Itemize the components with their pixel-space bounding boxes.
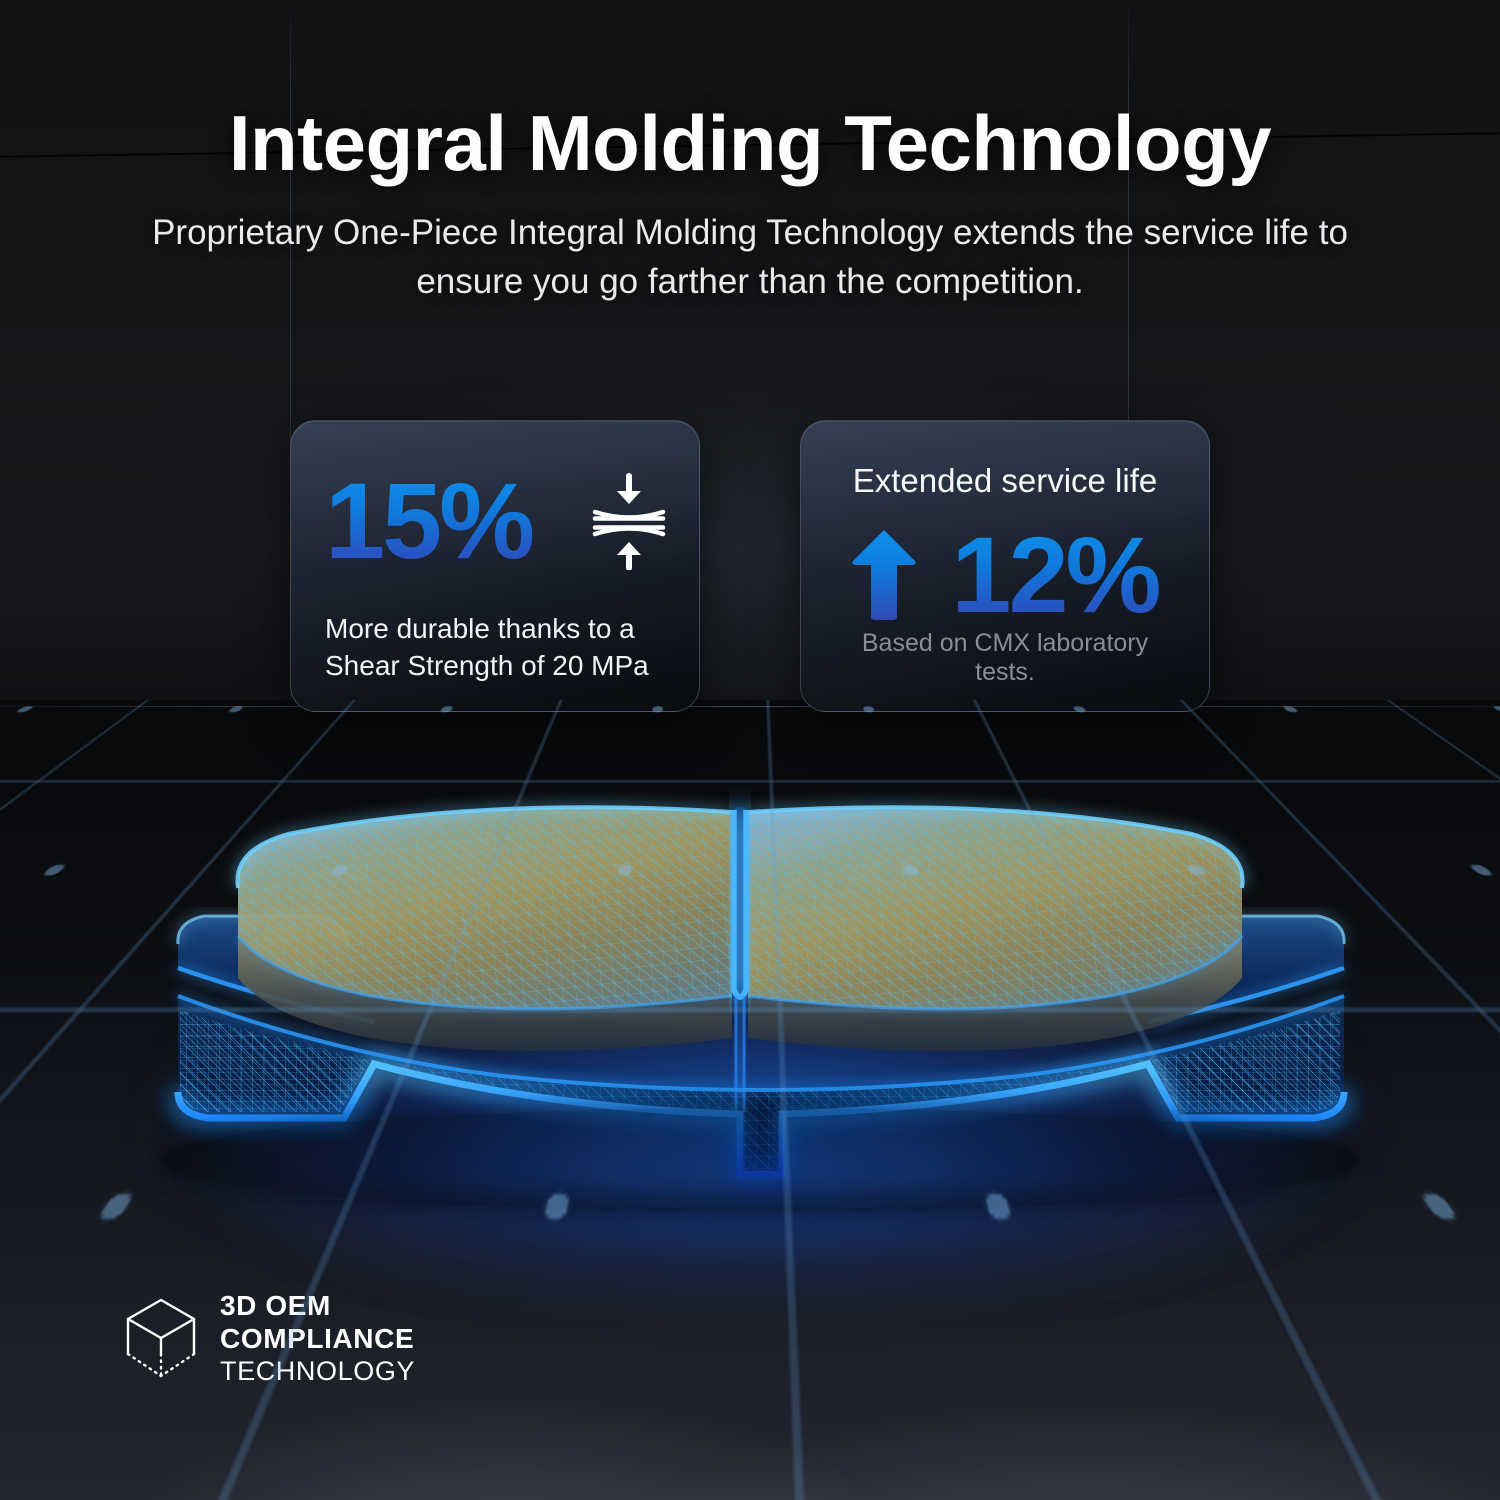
friction-block-left xyxy=(210,790,770,1051)
brand-logo: 3D OEM COMPLIANCE TECHNOLOGY xyxy=(124,1292,415,1385)
stat-card-durability[interactable]: 15% More durable thanks to xyxy=(290,420,700,712)
brake-pad-reflection xyxy=(180,1091,1340,1190)
logo-line-2: COMPLIANCE xyxy=(220,1325,415,1353)
brake-pad-3d-model xyxy=(120,760,1400,1280)
service-life-stat-value: 12% xyxy=(951,521,1158,629)
wireframe-cube-icon xyxy=(124,1296,198,1382)
service-life-stat-row: 12% xyxy=(851,521,1158,629)
stat-card-group: 15% More durable thanks to xyxy=(0,420,1500,712)
durability-caption: More durable thanks to a Shear Strength … xyxy=(325,610,665,685)
durability-stat-value: 15% xyxy=(325,467,532,575)
friction-block-center-slot xyxy=(732,807,748,1112)
service-life-note: Based on CMX laboratory tests. xyxy=(835,629,1175,687)
logo-line-1: 3D OEM xyxy=(220,1292,415,1320)
promo-graphic: Integral Molding Technology Proprietary … xyxy=(0,0,1500,1500)
compression-icon xyxy=(590,472,668,570)
logo-line-3: TECHNOLOGY xyxy=(220,1358,415,1385)
service-life-heading: Extended service life xyxy=(853,463,1158,499)
header: Integral Molding Technology Proprietary … xyxy=(0,0,1500,306)
stat-card-service-life[interactable]: Extended service life 12% Based on CMX l… xyxy=(800,420,1210,712)
up-arrow-icon xyxy=(851,528,917,622)
logo-text: 3D OEM COMPLIANCE TECHNOLOGY xyxy=(220,1292,415,1385)
brake-pad-wireframe xyxy=(120,760,1400,1280)
friction-block-right xyxy=(740,790,1300,1051)
durability-stat-row: 15% xyxy=(325,461,665,581)
page-subtitle: Proprietary One-Piece Integral Molding T… xyxy=(120,208,1380,306)
page-title: Integral Molding Technology xyxy=(0,104,1500,182)
